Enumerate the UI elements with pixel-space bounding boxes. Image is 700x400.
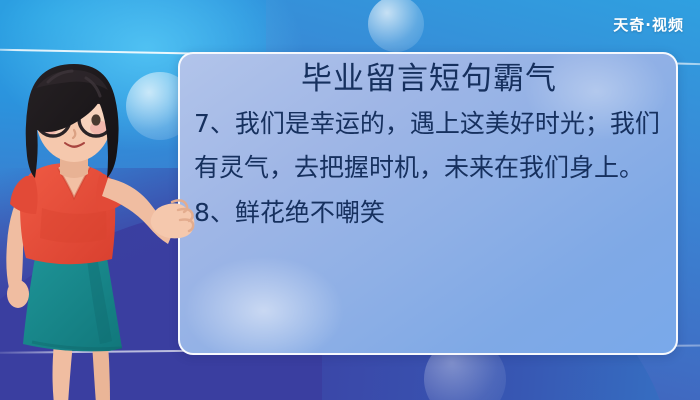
card-title: 毕业留言短句霸气	[194, 60, 664, 100]
card-body-line-2: 有灵气，去把握时机，未来在我们身上。	[194, 146, 664, 191]
card-body-line-3: 8、鲜花绝不嘲笑	[194, 191, 664, 236]
video-frame: 天奇·视频 毕业留言短句霸气 7、我们是幸运的，遇上这美好时光；我们 有灵气，去…	[0, 0, 700, 400]
card-body-line-1: 7、我们是幸运的，遇上这美好时光；我们	[194, 102, 664, 147]
text-card: 毕业留言短句霸气 7、我们是幸运的，遇上这美好时光；我们 有灵气，去把握时机，未…	[178, 52, 678, 355]
channel-watermark: 天奇·视频	[613, 14, 684, 35]
card-body: 7、我们是幸运的，遇上这美好时光；我们 有灵气，去把握时机，未来在我们身上。 8…	[194, 102, 664, 236]
